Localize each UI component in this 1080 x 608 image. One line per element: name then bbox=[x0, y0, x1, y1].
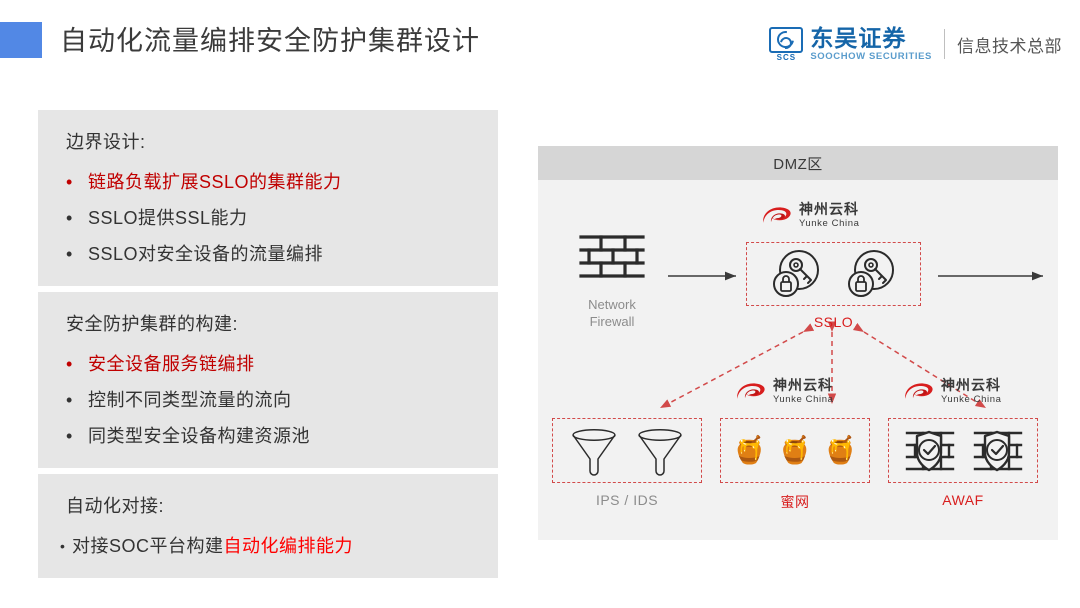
list-item: • 链路负载扩展SSLO的集群能力 bbox=[38, 164, 498, 200]
list-item-label: 控制不同类型流量的流向 bbox=[88, 389, 292, 411]
section-heading: 安全防护集群的构建: bbox=[38, 306, 498, 346]
honeypot-icon: 🍯 bbox=[824, 437, 858, 464]
list-item-label: 同类型安全设备构建资源池 bbox=[88, 425, 310, 447]
architecture-diagram: DMZ区 bbox=[538, 146, 1058, 540]
funnel-icon bbox=[636, 426, 684, 476]
yunke-swoosh-icon bbox=[734, 380, 768, 404]
panel-section-boundary-design: 边界设计: • 链路负载扩展SSLO的集群能力 • SSLO提供SSL能力 • … bbox=[38, 110, 498, 286]
honeynet-group-box: 🍯 🍯 🍯 bbox=[720, 418, 870, 483]
brand-name-zh: 东吴证券 bbox=[810, 26, 932, 50]
vendor-name-en: Yunke China bbox=[799, 218, 859, 229]
sslo-group-box bbox=[746, 242, 921, 306]
bullet-icon: • bbox=[60, 535, 72, 557]
bullet-icon: • bbox=[66, 171, 88, 193]
list-item-label-highlight: 自动化编排能力 bbox=[224, 536, 354, 556]
vendor-name-block: 神州云科 Yunke China bbox=[799, 202, 859, 229]
brick-wall-icon bbox=[579, 232, 645, 284]
shield-wall-icon bbox=[901, 427, 957, 475]
bullet-icon: • bbox=[66, 389, 88, 411]
sslo-icon-row bbox=[747, 243, 920, 305]
awaf-icon-row bbox=[889, 419, 1037, 482]
slide-header: 自动化流量编排安全防护集群设计 SCS 东吴证券 SOOCHOW SECURIT… bbox=[0, 0, 1080, 90]
vendor-name-en: Yunke China bbox=[773, 394, 833, 405]
list-item-label-plain: 对接SOC平台构建 bbox=[72, 536, 224, 556]
diagram-body: NetworkFirewall 神州云科 Yunke China bbox=[538, 180, 1058, 540]
vendor-logo-awaf: 神州云科 Yunke China bbox=[902, 378, 1001, 405]
vendor-name-block: 神州云科 Yunke China bbox=[941, 378, 1001, 405]
vendor-name-zh: 神州云科 bbox=[799, 202, 859, 217]
ips-ids-group-box bbox=[552, 418, 702, 483]
vendor-name-zh: 神州云科 bbox=[773, 378, 833, 393]
list-item: • 安全设备服务链编排 bbox=[38, 346, 498, 382]
key-lock-icon bbox=[845, 248, 897, 300]
key-lock-icon bbox=[770, 248, 822, 300]
list-item: • 对接SOC平台构建自动化编排能力 bbox=[38, 528, 498, 564]
list-item-label: SSLO对安全设备的流量编排 bbox=[88, 243, 323, 265]
honeynet-icon-row: 🍯 🍯 🍯 bbox=[721, 419, 869, 482]
brand-department: 信息技术总部 bbox=[957, 32, 1062, 57]
list-item: • 同类型安全设备构建资源池 bbox=[38, 418, 498, 454]
network-firewall-node: NetworkFirewall bbox=[560, 232, 664, 330]
brand-lockup: SCS 东吴证券 SOOCHOW SECURITIES 信息技术总部 bbox=[769, 24, 1062, 64]
list-item: • SSLO对安全设备的流量编排 bbox=[38, 236, 498, 272]
honeypot-icon: 🍯 bbox=[778, 437, 812, 464]
bullet-icon: • bbox=[66, 207, 88, 229]
list-item-label: SSLO提供SSL能力 bbox=[88, 207, 248, 229]
bullet-icon: • bbox=[66, 353, 88, 375]
left-text-panel: 边界设计: • 链路负载扩展SSLO的集群能力 • SSLO提供SSL能力 • … bbox=[38, 110, 498, 584]
brand-divider bbox=[944, 29, 945, 59]
list-item-label: 链路负载扩展SSLO的集群能力 bbox=[88, 171, 342, 193]
vendor-logo-honeynet: 神州云科 Yunke China bbox=[734, 378, 833, 405]
awaf-group-box bbox=[888, 418, 1038, 483]
section-heading: 自动化对接: bbox=[38, 488, 498, 528]
list-item: • 控制不同类型流量的流向 bbox=[38, 382, 498, 418]
list-item: • SSLO提供SSL能力 bbox=[38, 200, 498, 236]
vendor-name-en: Yunke China bbox=[941, 394, 1001, 405]
vendor-logo-sslo: 神州云科 Yunke China bbox=[760, 202, 859, 229]
brand-name-en: SOOCHOW SECURITIES bbox=[810, 51, 932, 62]
firewall-label: NetworkFirewall bbox=[560, 296, 664, 330]
bullet-icon: • bbox=[66, 425, 88, 447]
bullet-icon: • bbox=[66, 243, 88, 265]
honeypot-icon: 🍯 bbox=[733, 437, 767, 464]
section-heading: 边界设计: bbox=[38, 124, 498, 164]
yunke-swoosh-icon bbox=[902, 380, 936, 404]
yunke-swoosh-icon bbox=[760, 204, 794, 228]
sslo-label: SSLO bbox=[746, 314, 921, 330]
list-item-label: 安全设备服务链编排 bbox=[88, 353, 255, 375]
dmz-zone-header: DMZ区 bbox=[538, 146, 1058, 180]
awaf-label: AWAF bbox=[888, 492, 1038, 508]
soochow-logo-icon: SCS bbox=[769, 27, 803, 61]
list-item-label: 对接SOC平台构建自动化编排能力 bbox=[72, 535, 353, 557]
slide-canvas: 自动化流量编排安全防护集群设计 SCS 东吴证券 SOOCHOW SECURIT… bbox=[0, 0, 1080, 608]
shield-wall-icon bbox=[969, 427, 1025, 475]
ips-ids-label: IPS / IDS bbox=[552, 492, 702, 508]
vendor-name-zh: 神州云科 bbox=[941, 378, 1001, 393]
ips-icon-row bbox=[553, 419, 701, 482]
honeynet-label: 蜜网 bbox=[720, 492, 870, 512]
vendor-name-block: 神州云科 Yunke China bbox=[773, 378, 833, 405]
funnel-icon bbox=[570, 426, 618, 476]
panel-section-automation: 自动化对接: • 对接SOC平台构建自动化编排能力 bbox=[38, 474, 498, 578]
brand-names: 东吴证券 SOOCHOW SECURITIES bbox=[810, 26, 932, 62]
brand-mark-text: SCS bbox=[769, 54, 803, 62]
panel-section-cluster-build: 安全防护集群的构建: • 安全设备服务链编排 • 控制不同类型流量的流向 • 同… bbox=[38, 292, 498, 468]
page-title: 自动化流量编排安全防护集群设计 bbox=[60, 19, 480, 58]
title-accent-bar bbox=[0, 22, 42, 58]
